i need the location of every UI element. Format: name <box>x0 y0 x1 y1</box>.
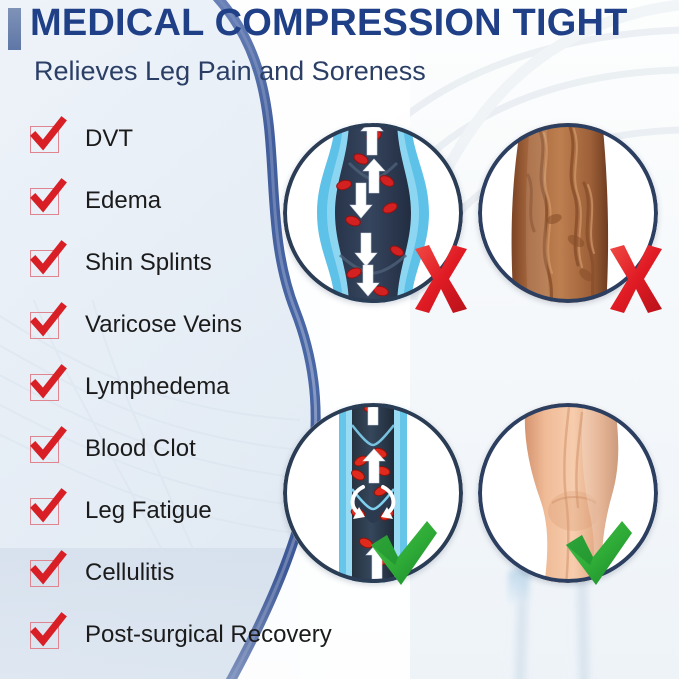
list-item-label: Leg Fatigue <box>85 497 212 525</box>
list-item: Lymphedema <box>0 356 300 418</box>
checkbox-checked-icon <box>30 436 59 463</box>
benefits-checklist: DVT Edema Shin Splints Varicose Veins Ly <box>0 108 300 666</box>
checkbox-checked-icon <box>30 374 59 401</box>
cross-mark-icon <box>600 243 672 315</box>
list-item-label: Post-surgical Recovery <box>85 621 332 649</box>
list-item-label: DVT <box>85 125 133 153</box>
checkbox-checked-icon <box>30 560 59 587</box>
list-item: Edema <box>0 170 300 232</box>
list-item-label: Cellulitis <box>85 559 174 587</box>
check-mark-icon <box>562 521 634 593</box>
list-item-label: Lymphedema <box>85 373 230 401</box>
list-item: Shin Splints <box>0 232 300 294</box>
checkbox-checked-icon <box>30 498 59 525</box>
product-infographic: MEDICAL COMPRESSION TIGHT Relieves Leg P… <box>0 0 679 679</box>
checkbox-checked-icon <box>30 188 59 215</box>
checkbox-checked-icon <box>30 126 59 153</box>
list-item: Cellulitis <box>0 542 300 604</box>
title-accent-bar <box>8 8 21 50</box>
list-item-label: Edema <box>85 187 161 215</box>
checkbox-checked-icon <box>30 622 59 649</box>
page-subtitle: Relieves Leg Pain and Soreness <box>34 56 426 87</box>
list-item: Leg Fatigue <box>0 480 300 542</box>
checkbox-checked-icon <box>30 250 59 277</box>
list-item-label: Blood Clot <box>85 435 196 463</box>
list-item: Blood Clot <box>0 418 300 480</box>
list-item: Post-surgical Recovery <box>0 604 300 666</box>
check-mark-icon <box>367 521 439 593</box>
list-item: Varicose Veins <box>0 294 300 356</box>
list-item-label: Shin Splints <box>85 249 212 277</box>
cross-mark-icon <box>405 243 477 315</box>
list-item-label: Varicose Veins <box>85 311 242 339</box>
checkbox-checked-icon <box>30 312 59 339</box>
page-title: MEDICAL COMPRESSION TIGHT <box>30 2 628 45</box>
list-item: DVT <box>0 108 300 170</box>
